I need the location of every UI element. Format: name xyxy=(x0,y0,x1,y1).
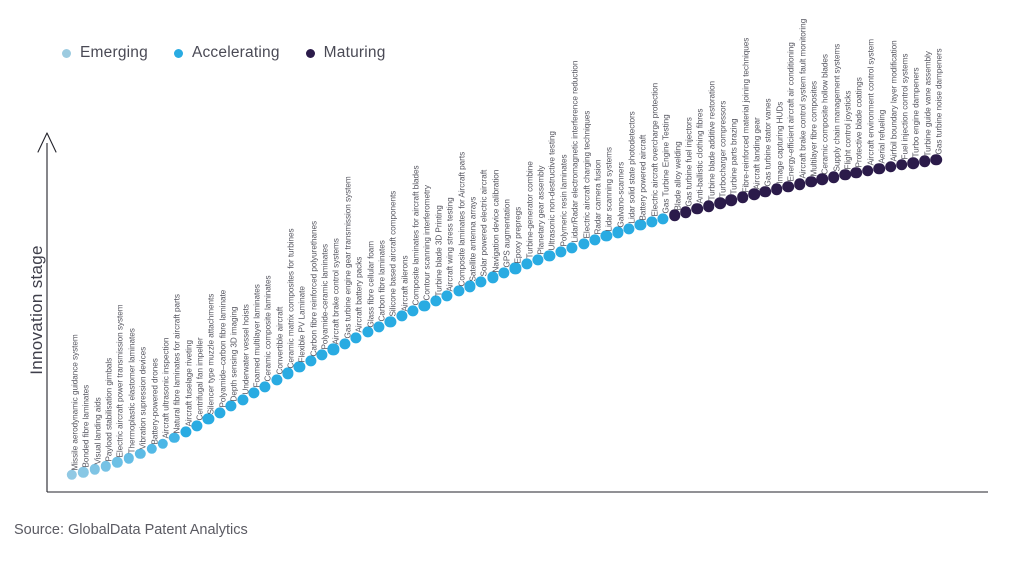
scatter-point[interactable] xyxy=(373,321,384,332)
scatter-point[interactable] xyxy=(237,394,248,405)
scatter-point[interactable] xyxy=(158,438,168,448)
scatter-point[interactable] xyxy=(385,316,396,327)
scatter-point-label: Epoxy prepregs xyxy=(514,207,523,264)
scatter-point[interactable] xyxy=(748,189,760,201)
scatter-point[interactable] xyxy=(135,449,145,459)
scatter-point[interactable] xyxy=(112,457,122,467)
scatter-point-label: Composite laminates for Aircraft parts xyxy=(457,152,466,287)
scatter-point[interactable] xyxy=(294,362,305,373)
scatter-point-label: Energy-efficient aircraft air conditioni… xyxy=(787,42,796,181)
scatter-point-label: Radar camera fusion xyxy=(593,160,602,235)
scatter-point[interactable] xyxy=(612,227,623,238)
scatter-point-label: Navigation device calibration xyxy=(491,170,500,273)
scatter-point-label: Turbine blade 3D Printing xyxy=(434,205,443,296)
scatter-point-label: Aircraft ultrasonic inspection xyxy=(161,338,170,439)
scatter-point[interactable] xyxy=(771,183,783,195)
scatter-point[interactable] xyxy=(805,176,817,188)
scatter-point[interactable] xyxy=(623,223,634,234)
scatter-point-label: Ceramic matrix composites for turbines xyxy=(287,228,296,368)
scatter-point-label: Electric aircraft overcharge protection xyxy=(650,83,659,217)
scatter-point[interactable] xyxy=(680,206,692,218)
scatter-point[interactable] xyxy=(714,197,726,209)
scatter-point-label: Flexible PV Laminate xyxy=(298,286,307,362)
scatter-point-label: Battery powered aircraft xyxy=(639,134,648,220)
scatter-point-label: Aircraft ailerons xyxy=(400,255,409,311)
scatter-point-label: Carbon fibre reinforced polyurethanes xyxy=(309,220,318,356)
source-caption: Source: GlobalData Patent Analytics xyxy=(14,522,248,538)
scatter-point[interactable] xyxy=(362,327,373,338)
scatter-point-label: Image capturing HUDs xyxy=(775,102,784,184)
scatter-point-label: Thermoplastic elastomer laminates xyxy=(127,328,136,453)
chart-plot-area: Innovation stage Missile aerodynamic gui… xyxy=(0,0,1024,576)
scatter-point[interactable] xyxy=(873,163,885,175)
scatter-point[interactable] xyxy=(589,234,600,245)
scatter-point-label: Bonded fibre laminates xyxy=(82,385,91,468)
scatter-point[interactable] xyxy=(862,165,874,177)
scatter-point-label: Turbo engine dampeners xyxy=(912,68,921,158)
scatter-point-label: Turbine-generator combine xyxy=(525,162,534,259)
scatter-point-label: Ceramic composite hollow blades xyxy=(821,54,830,174)
scatter-point-label: Ultrasonic non-destructive testing xyxy=(548,131,557,250)
scatter-point[interactable] xyxy=(407,305,418,316)
scatter-point[interactable] xyxy=(907,157,919,169)
scatter-point[interactable] xyxy=(305,356,316,367)
scatter-point-label: Gas turbine engine gear transmission sys… xyxy=(343,176,352,338)
scatter-point-label: Gas Turbine Engine Testing xyxy=(662,114,671,213)
scatter-point-label: Fibre-reinforced material joining techni… xyxy=(741,37,750,192)
scatter-point-label: Aircraft brake control system fault moni… xyxy=(798,19,807,179)
scatter-point-label: Flight control joysticks xyxy=(844,91,853,170)
scatter-point[interactable] xyxy=(782,181,794,193)
scatter-point-label: Turbine blade additive restoration xyxy=(707,81,716,201)
scatter-point[interactable] xyxy=(726,194,738,206)
scatter-point-label: Gas turbine noise dampeners xyxy=(935,48,944,154)
scatter-point[interactable] xyxy=(146,444,156,454)
scatter-point-label: Aircraft landing gear xyxy=(753,117,762,189)
scatter-point-label: Galvano-scanners xyxy=(616,162,625,228)
scatter-point[interactable] xyxy=(851,167,863,179)
scatter-point[interactable] xyxy=(498,267,509,278)
scatter-point-label: Turbine guide vane assembly xyxy=(923,51,932,156)
scatter-point[interactable] xyxy=(930,154,942,166)
scatter-point[interactable] xyxy=(760,186,772,198)
scatter-point-label: Aircraft battery packs xyxy=(355,257,364,333)
scatter-point[interactable] xyxy=(555,246,566,257)
scatter-point-label: Lidar scanning systems xyxy=(605,147,614,231)
scatter-point[interactable] xyxy=(396,311,407,322)
scatter-point-label: Lidar solid state photodetectors xyxy=(628,112,637,224)
scatter-point[interactable] xyxy=(601,231,612,242)
scatter-point-label: Aircraft brake control systems xyxy=(332,238,341,344)
scatter-point[interactable] xyxy=(658,213,669,224)
scatter-point-label: Gas turbine stator vanes xyxy=(764,98,773,186)
scatter-point-label: Visual landing aids xyxy=(93,398,102,465)
scatter-point-label: Gas turbine fuel injectors xyxy=(684,117,693,206)
scatter-point[interactable] xyxy=(214,407,225,418)
scatter-point[interactable] xyxy=(919,156,931,168)
scatter-point[interactable] xyxy=(90,464,100,474)
scatter-point[interactable] xyxy=(533,254,544,265)
scatter-point[interactable] xyxy=(419,300,430,311)
scatter-point[interactable] xyxy=(839,169,851,181)
scatter-point-label: Battery-powered drones xyxy=(150,358,159,444)
scatter-point-label: Aerial refueling xyxy=(878,110,887,164)
scatter-point-label: Vibration supression devices xyxy=(139,347,148,450)
scatter-point-label: Polyamide–carbon fibre laminate xyxy=(218,290,227,408)
scatter-point[interactable] xyxy=(703,200,715,212)
scatter-point[interactable] xyxy=(669,210,681,222)
scatter-point-label: Turbine parts brazing xyxy=(730,119,739,195)
scatter-point[interactable] xyxy=(544,250,555,261)
scatter-point[interactable] xyxy=(794,178,806,190)
scatter-point[interactable] xyxy=(453,286,464,297)
scatter-point[interactable] xyxy=(203,414,214,425)
scatter-point[interactable] xyxy=(282,368,293,379)
scatter-point[interactable] xyxy=(260,381,271,392)
scatter-point[interactable] xyxy=(635,220,646,231)
scatter-point-label: Depth sensing 3D imaging xyxy=(230,306,239,401)
scatter-point-label: Supply chain management systems xyxy=(832,44,841,172)
scatter-point[interactable] xyxy=(464,281,475,292)
scatter-point[interactable] xyxy=(226,401,237,412)
scatter-point[interactable] xyxy=(248,387,259,398)
scatter-point-label: Electric aircraft power transmission sys… xyxy=(116,305,125,458)
scatter-point-label: Polyamide-ceramic laminates xyxy=(321,244,330,350)
scatter-point-label: Missile aerodynamic guidance system xyxy=(71,334,80,470)
scatter-point-label: Ceramic composite laminates xyxy=(264,275,273,381)
scatter-point[interactable] xyxy=(442,291,453,302)
scatter-point-label: GPS augmentation xyxy=(503,199,512,267)
scatter-point[interactable] xyxy=(430,296,441,307)
scatter-point[interactable] xyxy=(691,203,703,215)
scatter-point-label: Glass fibre cellular foam xyxy=(366,240,375,327)
scatter-point-label: Carbon fibre laminates xyxy=(377,240,386,321)
scatter-point-label: Planetary gear assembly xyxy=(537,166,546,255)
scatter-point[interactable] xyxy=(169,433,179,443)
scatter-point-label: Underwater vessel hoists xyxy=(241,304,250,394)
scatter-point-label: Centrifugal fan impeller xyxy=(196,338,205,421)
scatter-point-label: Contour scanning interferometry xyxy=(423,186,432,301)
scatter-point-label: Silencer type muzzle attachments xyxy=(207,293,216,414)
scatter-point-label: Convertible aircraft xyxy=(275,307,284,375)
scatter-point-label: Solar powered electric aircraft xyxy=(480,170,489,277)
scatter-point-label: Turbocharger compressors xyxy=(719,101,728,198)
scatter-point-label: Silicone based aircraft components xyxy=(389,191,398,317)
scatter-point[interactable] xyxy=(567,242,578,253)
scatter-point-label: Multilayer fibre composites xyxy=(809,81,818,177)
scatter-point-label: Polymeric resin laminates xyxy=(559,155,568,247)
scatter-point[interactable] xyxy=(317,349,328,360)
scatter-point[interactable] xyxy=(476,276,487,287)
scatter-point-label: Aircraft fuselage riveting xyxy=(184,340,193,427)
scatter-point[interactable] xyxy=(896,159,908,171)
scatter-point-label: Natural fibre laminates for aircraft par… xyxy=(173,294,182,433)
scatter-point[interactable] xyxy=(510,263,521,274)
scatter-point-label: Payload stabilisation gimbals xyxy=(105,358,114,462)
scatter-point[interactable] xyxy=(328,344,339,355)
scatter-point[interactable] xyxy=(737,192,749,204)
scatter-point-label: Anti-ballistic clothing fibres xyxy=(696,109,705,204)
scatter-point[interactable] xyxy=(521,258,532,269)
scatter-point-label: Electric aircraft charging techniques xyxy=(582,111,591,239)
scatter-point[interactable] xyxy=(828,171,840,183)
scatter-point[interactable] xyxy=(180,426,191,437)
scatter-point[interactable] xyxy=(578,238,589,249)
scatter-points-layer: Missile aerodynamic guidance systemBonde… xyxy=(0,0,1024,576)
scatter-point-label: Foamed multilayer laminates xyxy=(252,285,261,388)
scatter-point-label: Aircraft environment control system xyxy=(866,39,875,166)
scatter-point[interactable] xyxy=(339,338,350,349)
scatter-point-label: Composite laminates for aircraft blades xyxy=(412,166,421,306)
scatter-point[interactable] xyxy=(885,161,897,173)
scatter-point-label: Blade alloy welding xyxy=(673,141,682,210)
scatter-point-label: Airfoil boundary layer modification xyxy=(889,40,898,161)
scatter-point[interactable] xyxy=(487,272,498,283)
scatter-point[interactable] xyxy=(78,467,88,477)
scatter-point-label: Aircraft wing stress testing xyxy=(446,197,455,291)
scatter-point-label: Fuel injection control systems xyxy=(900,53,909,159)
scatter-point[interactable] xyxy=(124,453,134,463)
scatter-point-label: Protective blade coatings xyxy=(855,77,864,167)
scatter-point[interactable] xyxy=(271,374,282,385)
scatter-point[interactable] xyxy=(101,461,111,471)
scatter-point[interactable] xyxy=(67,470,77,480)
scatter-point[interactable] xyxy=(351,332,362,343)
scatter-point[interactable] xyxy=(817,174,829,186)
scatter-point[interactable] xyxy=(646,216,657,227)
scatter-point-label: Lidar/Radar electromagnetic interference… xyxy=(571,61,580,243)
scatter-point[interactable] xyxy=(191,420,202,431)
scatter-point-label: Satellite antenna arrays xyxy=(468,196,477,281)
